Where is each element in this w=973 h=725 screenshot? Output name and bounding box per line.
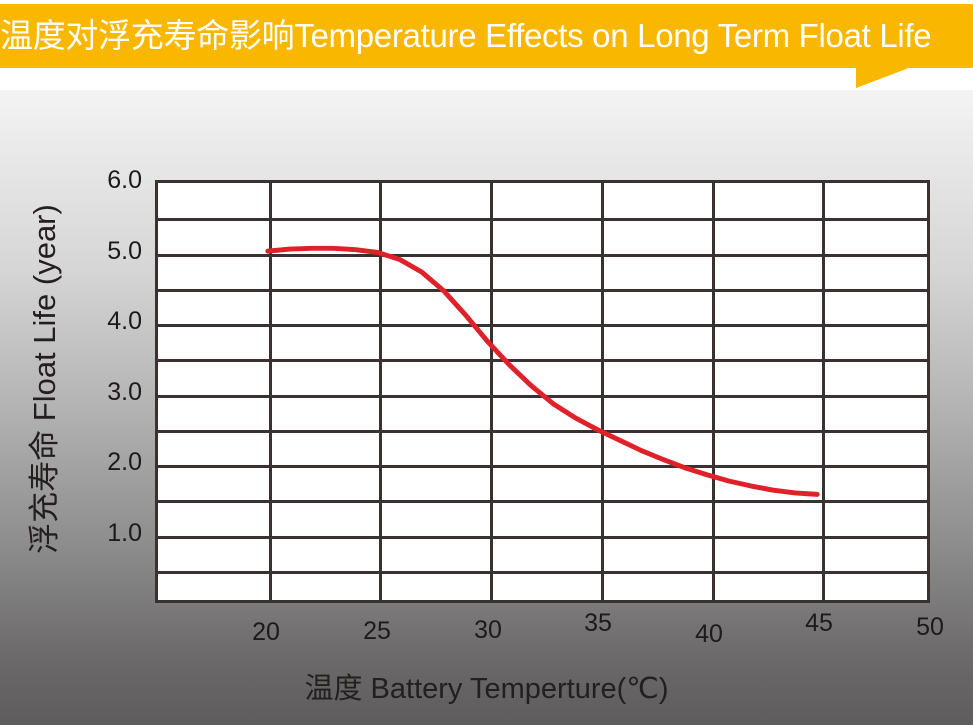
x-tick-label: 50 xyxy=(900,613,960,642)
y-tick-label: 4.0 xyxy=(72,307,142,336)
x-tick-label: 40 xyxy=(679,620,739,649)
x-tick-label: 20 xyxy=(236,618,296,647)
y-axis-title: 浮充寿命 Float Life (year) xyxy=(21,99,69,659)
float-life-polyline xyxy=(268,248,817,494)
y-axis-title-wrapper: 浮充寿命 Float Life (year) xyxy=(21,99,69,659)
y-tick-label: 3.0 xyxy=(72,378,142,407)
chart-screenshot: 温度对浮充寿命影响Temperature Effects on Long Ter… xyxy=(0,0,973,725)
float-life-curve xyxy=(158,183,927,600)
x-tick-label: 35 xyxy=(568,609,628,638)
plot-area xyxy=(155,180,930,603)
y-tick-label: 2.0 xyxy=(72,448,142,477)
x-tick-label: 25 xyxy=(347,617,407,646)
y-tick-label: 6.0 xyxy=(72,166,142,195)
x-tick-label: 30 xyxy=(458,616,518,645)
x-axis-title: 温度 Battery Temperture(℃) xyxy=(0,665,973,707)
page-title: 温度对浮充寿命影响Temperature Effects on Long Ter… xyxy=(0,10,973,62)
x-tick-label: 45 xyxy=(789,609,849,638)
y-tick-label: 1.0 xyxy=(72,519,142,548)
y-tick-label: 5.0 xyxy=(72,237,142,266)
title-banner-tail-icon xyxy=(856,66,914,88)
